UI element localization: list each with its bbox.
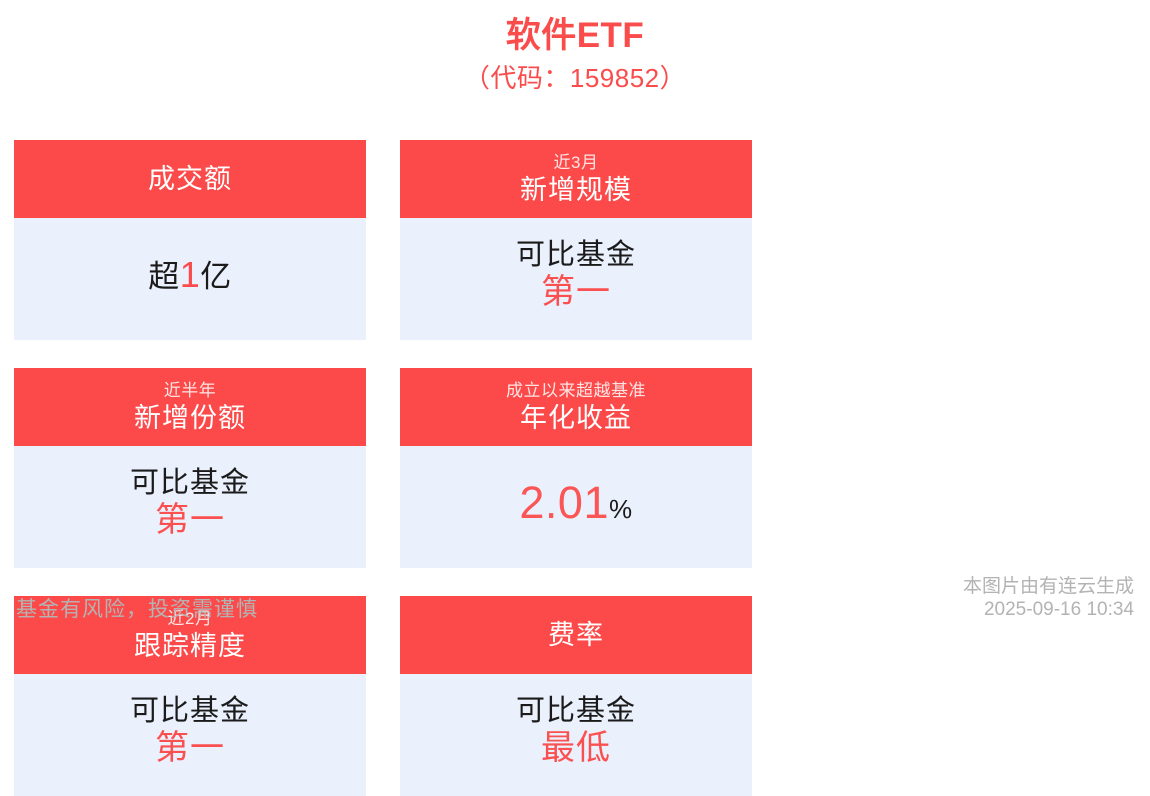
generation-info: 本图片由有连云生成 2025-09-16 10:34: [963, 575, 1134, 623]
metric-card-header: 成交额: [14, 140, 366, 218]
poster-root: 软件ETF （代码：159852） 成交额超1亿近3月新增规模可比基金第一近半年…: [0, 0, 1150, 632]
metric-card-title: 跟踪精度: [134, 630, 246, 662]
metric-card-subtitle: 近半年: [164, 380, 217, 401]
metric-value-part: 2.01: [519, 478, 609, 528]
metric-card-grid: 成交额超1亿近3月新增规模可比基金第一近半年新增份额可比基金第一成立以来超越基准…: [14, 140, 1136, 796]
title-block: 软件ETF （代码：159852）: [0, 0, 1150, 96]
metric-card: 近3月新增规模可比基金第一: [400, 140, 752, 340]
metric-card-body: 可比基金第一: [14, 446, 366, 568]
metric-card-body: 2.01%: [400, 446, 752, 568]
metric-rank-value: 第一: [155, 729, 225, 768]
metric-value-part: 1: [180, 255, 201, 295]
metric-card-body: 可比基金最低: [400, 674, 752, 796]
metric-comparison-label: 可比基金: [130, 466, 250, 501]
metric-card-subtitle: 成立以来超越基准: [506, 380, 646, 401]
metric-comparison-label: 可比基金: [130, 694, 250, 729]
metric-card: 近半年新增份额可比基金第一: [14, 368, 366, 568]
metric-card-title: 新增规模: [520, 174, 632, 206]
metric-card-subtitle: 近3月: [554, 152, 599, 173]
fund-code: （代码：159852）: [0, 62, 1150, 96]
risk-disclaimer: 基金有风险，投资需谨慎: [16, 597, 258, 622]
metric-card: 成立以来超越基准年化收益2.01%: [400, 368, 752, 568]
metric-comparison-label: 可比基金: [516, 238, 636, 273]
metric-rank-value: 最低: [541, 729, 611, 768]
metric-card-body: 超1亿: [14, 218, 366, 340]
metric-card-title: 成交额: [148, 163, 232, 195]
metric-card-header: 成立以来超越基准年化收益: [400, 368, 752, 446]
footer: 基金有风险，投资需谨慎 本图片由有连云生成 2025-09-16 10:34: [0, 574, 1150, 632]
metric-comparison-label: 可比基金: [516, 694, 636, 729]
timestamp-label: 2025-09-16 10:34: [963, 598, 1134, 622]
metric-card-title: 新增份额: [134, 402, 246, 434]
metric-card-body: 可比基金第一: [14, 674, 366, 796]
metric-card-header: 近半年新增份额: [14, 368, 366, 446]
page-title: 软件ETF: [0, 16, 1150, 56]
metric-card-header: 近3月新增规模: [400, 140, 752, 218]
metric-value-part: %: [609, 495, 633, 524]
metric-card: 成交额超1亿: [14, 140, 366, 340]
metric-rank-value: 第一: [155, 501, 225, 540]
metric-value: 超1亿: [148, 255, 232, 295]
metric-value-part: 超: [148, 260, 180, 294]
metric-rank-value: 第一: [541, 273, 611, 312]
metric-card-body: 可比基金第一: [400, 218, 752, 340]
metric-value-part: 亿: [200, 260, 232, 294]
metric-card-title: 年化收益: [520, 402, 632, 434]
metric-value: 2.01%: [519, 478, 632, 528]
source-label: 本图片由有连云生成: [963, 575, 1134, 599]
